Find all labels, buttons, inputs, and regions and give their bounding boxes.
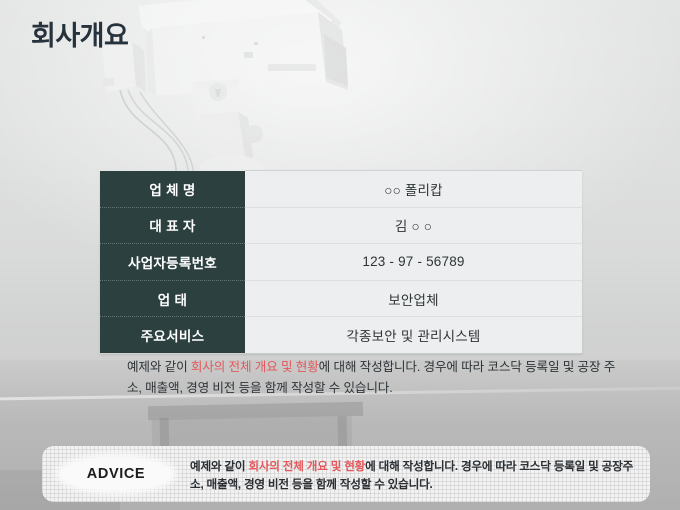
row-label: 주요서비스 xyxy=(100,317,245,354)
page-title: 회사개요 xyxy=(31,23,128,50)
body-text-pre: 예제와 같이 xyxy=(127,360,191,374)
advice-text: 예제와 같이 회사의 전체 개요 및 현황에 대해 작성합니다. 경우에 따라 … xyxy=(190,458,638,494)
slide-canvas: 회사개요 업 체 명 ○○ 폴리캅 대 표 자 김 ○ ○ 사업자등록번호 12… xyxy=(0,0,680,510)
table-row: 업 체 명 ○○ 폴리캅 xyxy=(100,171,582,208)
row-label: 사업자등록번호 xyxy=(100,244,245,281)
row-value: ○○ 폴리캅 xyxy=(245,171,582,208)
table-row: 사업자등록번호 123 - 97 - 56789 xyxy=(100,244,582,281)
row-value: 보안업체 xyxy=(245,280,582,317)
advice-text-highlight: 회사의 전체 개요 및 현황 xyxy=(248,460,365,473)
row-label: 대 표 자 xyxy=(100,207,245,244)
table-row: 업 태 보안업체 xyxy=(100,280,582,317)
advice-text-pre: 예제와 같이 xyxy=(190,460,248,473)
row-label: 업 체 명 xyxy=(100,171,245,208)
company-info-table: 업 체 명 ○○ 폴리캅 대 표 자 김 ○ ○ 사업자등록번호 123 - 9… xyxy=(100,170,582,354)
table-row: 주요서비스 각종보안 및 관리시스템 xyxy=(100,317,582,354)
advice-text-line2: 액, 경영 비전 등을 함께 작성할 수 있습니다. xyxy=(227,478,432,491)
row-value: 123 - 97 - 56789 xyxy=(245,244,582,281)
row-label: 업 태 xyxy=(100,280,245,317)
body-text-post: 에 대해 작성합니다. 경우에 따라 코스닥 등록일 및 공장 xyxy=(319,360,601,374)
advice-badge: ADVICE xyxy=(60,458,172,490)
row-value: 김 ○ ○ xyxy=(245,207,582,244)
row-value: 각종보안 및 관리시스템 xyxy=(245,317,582,354)
table-row: 대 표 자 김 ○ ○ xyxy=(100,207,582,244)
body-description: 예제와 같이 회사의 전체 개요 및 현황에 대해 작성합니다. 경우에 따라 … xyxy=(127,357,619,399)
advice-box: ADVICE 예제와 같이 회사의 전체 개요 및 현황에 대해 작성합니다. … xyxy=(42,446,650,502)
body-text-highlight: 회사의 전체 개요 및 현황 xyxy=(191,360,319,374)
